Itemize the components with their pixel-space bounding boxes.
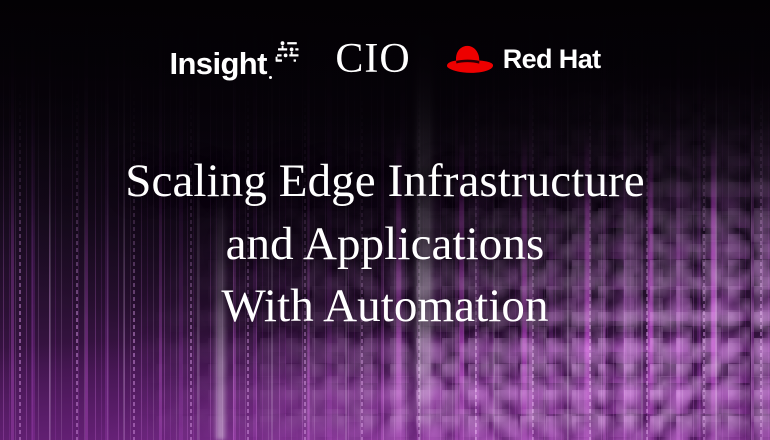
- headline-line-2: and Applications: [18, 213, 752, 276]
- insight-grid-icon: [275, 39, 301, 70]
- headline-line-3: With Automation: [18, 275, 752, 338]
- headline-line-1: Scaling Edge Infrastructure: [18, 150, 752, 213]
- logo-row: Insight: [0, 33, 770, 85]
- logo-red-hat: Red Hat: [445, 41, 601, 77]
- page-title: Scaling Edge Infrastructure and Applicat…: [0, 150, 770, 338]
- promo-banner: Insight: [0, 0, 770, 440]
- insight-trademark-dot: [269, 76, 272, 79]
- red-hat-wordmark: Red Hat: [503, 46, 601, 73]
- insight-wordmark: Insight: [169, 48, 266, 79]
- logo-cio: CIO: [335, 38, 410, 80]
- logo-insight: Insight: [169, 39, 301, 79]
- red-hat-fedora-icon: [445, 41, 495, 77]
- cio-wordmark: CIO: [335, 38, 410, 80]
